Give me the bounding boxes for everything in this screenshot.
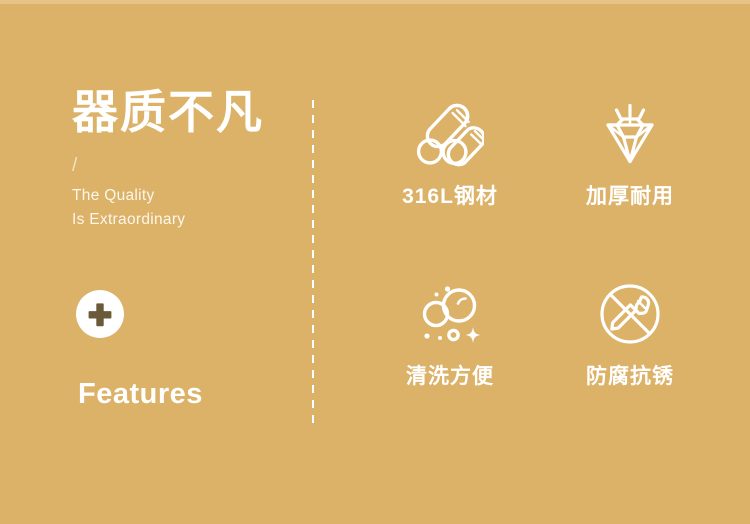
top-edge-strip [0,0,750,4]
feature-label-durable: 加厚耐用 [586,184,674,209]
headline-block: 器质不凡 / The Quality Is Extraordinary [72,88,287,232]
feature-label-anti-corrosion: 防腐抗锈 [586,364,674,389]
feature-item-durable: 加厚耐用 [540,96,720,246]
plus-icon-badge [76,290,124,338]
bubbles-icon [415,276,485,352]
feature-item-steel: 316L钢材 [360,96,540,246]
features-grid: 316L钢材 [360,96,720,426]
subtitle-block: The Quality Is Extraordinary [72,184,287,232]
feature-item-anti-corrosion: 防腐抗锈 [540,276,720,426]
plus-icon [87,301,113,327]
subtitle-line-1: The Quality [72,184,287,208]
product-feature-banner: 器质不凡 / The Quality Is Extraordinary Feat… [0,0,750,524]
feature-item-easy-clean: 清洗方便 [360,276,540,426]
subtitle-line-2: Is Extraordinary [72,208,287,232]
slash-divider-mark: / [72,156,287,176]
features-heading: Features [78,380,203,409]
page-title: 器质不凡 [72,88,287,136]
stacked-pipes-icon [416,96,484,172]
diamond-icon [595,96,665,172]
no-corrosion-dropper-icon [596,276,664,352]
feature-label-easy-clean: 清洗方便 [406,364,494,389]
dashed-vertical-divider [312,100,314,426]
feature-label-steel: 316L钢材 [402,184,498,209]
